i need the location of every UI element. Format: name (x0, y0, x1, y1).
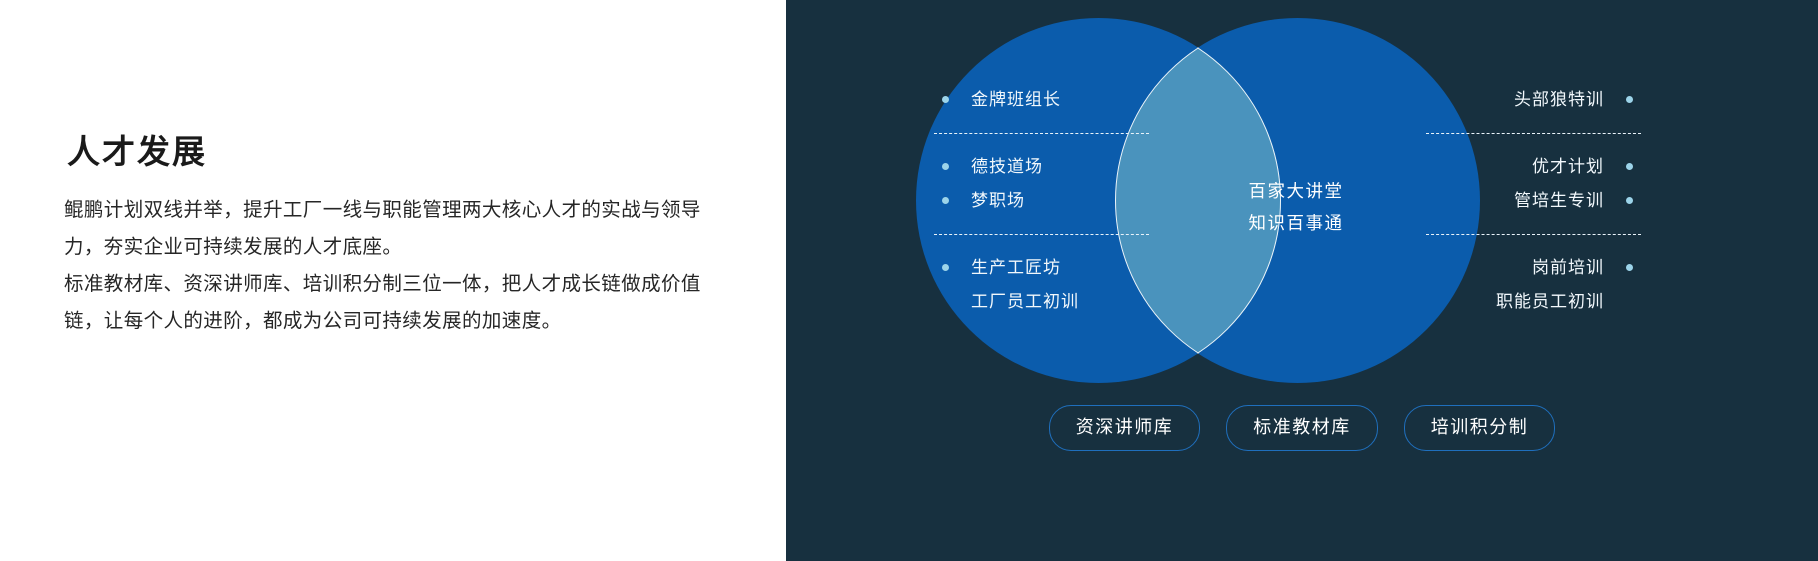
bullet-icon (1626, 96, 1633, 103)
venn-overlap-label: 百家大讲堂 知识百事通 (1166, 175, 1426, 239)
venn-right-group-3: 岗前培训 职能员工初训 (1426, 251, 1641, 319)
venn-right-group-1: 头部狼特训 (1426, 83, 1641, 117)
bullet-icon (942, 264, 949, 271)
list-item: 优才计划 (1426, 150, 1641, 184)
venn-diagram-panel: 金牌班组长 德技道场 梦职场 (786, 0, 1818, 561)
list-item-label: 优才计划 (1532, 150, 1604, 184)
dashed-divider (1426, 234, 1641, 235)
slide-canvas: 人才发展 鲲鹏计划双线并举，提升工厂一线与职能管理两大核心人才的实战与领导力，夯… (0, 0, 1818, 561)
pill-standard-courseware-library[interactable]: 标准教材库 (1226, 405, 1378, 451)
list-item: 工厂员工初训 (934, 285, 1149, 319)
pill-senior-trainer-library[interactable]: 资深讲师库 (1049, 405, 1201, 451)
list-item-label: 管培生专训 (1514, 184, 1604, 218)
bullet-icon (1626, 264, 1633, 271)
bullet-icon (942, 163, 949, 170)
list-item-label: 头部狼特训 (1514, 83, 1604, 117)
venn-left-items: 金牌班组长 德技道场 梦职场 (934, 18, 1149, 383)
venn-right-items: 头部狼特训 优才计划 管培生专训 (1426, 18, 1641, 383)
paragraph-2: 标准教材库、资深讲师库、培训积分制三位一体，把人才成长链做成价值链，让每个人的进… (64, 266, 724, 340)
bullet-spacer (1626, 298, 1633, 305)
list-item-label: 工厂员工初训 (971, 285, 1079, 319)
dashed-divider (934, 234, 1149, 235)
list-item-label: 岗前培训 (1532, 251, 1604, 285)
pill-button-row: 资深讲师库 标准教材库 培训积分制 (786, 405, 1818, 451)
list-item: 岗前培训 (1426, 251, 1641, 285)
bullet-icon (942, 197, 949, 204)
list-item: 生产工匠坊 (934, 251, 1149, 285)
venn-overlap-line-2: 知识百事通 (1166, 207, 1426, 239)
list-item: 梦职场 (934, 184, 1149, 218)
list-item: 管培生专训 (1426, 184, 1641, 218)
left-content-panel: 人才发展 鲲鹏计划双线并举，提升工厂一线与职能管理两大核心人才的实战与领导力，夯… (0, 0, 786, 561)
bullet-icon (1626, 197, 1633, 204)
body-copy: 鲲鹏计划双线并举，提升工厂一线与职能管理两大核心人才的实战与领导力，夯实企业可持… (64, 192, 724, 340)
venn-left-group-1: 金牌班组长 (934, 83, 1149, 117)
list-item-label: 职能员工初训 (1496, 285, 1604, 319)
venn-left-group-3: 生产工匠坊 工厂员工初训 (934, 251, 1149, 319)
list-item: 头部狼特训 (1426, 83, 1641, 117)
list-item-label: 梦职场 (971, 184, 1025, 218)
bullet-icon (1626, 163, 1633, 170)
list-item-label: 金牌班组长 (971, 83, 1061, 117)
venn-overlap-line-1: 百家大讲堂 (1166, 175, 1426, 207)
venn-left-group-2: 德技道场 梦职场 (934, 150, 1149, 218)
list-item: 金牌班组长 (934, 83, 1149, 117)
bullet-icon (942, 96, 949, 103)
list-item-label: 生产工匠坊 (971, 251, 1061, 285)
list-item: 德技道场 (934, 150, 1149, 184)
page-title: 人才发展 (67, 132, 207, 172)
pill-training-points-system[interactable]: 培训积分制 (1404, 405, 1556, 451)
venn-right-group-2: 优才计划 管培生专训 (1426, 150, 1641, 218)
list-item: 职能员工初训 (1426, 285, 1641, 319)
dashed-divider (1426, 133, 1641, 134)
paragraph-1: 鲲鹏计划双线并举，提升工厂一线与职能管理两大核心人才的实战与领导力，夯实企业可持… (64, 192, 724, 266)
bullet-spacer (942, 298, 949, 305)
dashed-divider (934, 133, 1149, 134)
list-item-label: 德技道场 (971, 150, 1043, 184)
venn-diagram: 金牌班组长 德技道场 梦职场 (786, 0, 1818, 400)
